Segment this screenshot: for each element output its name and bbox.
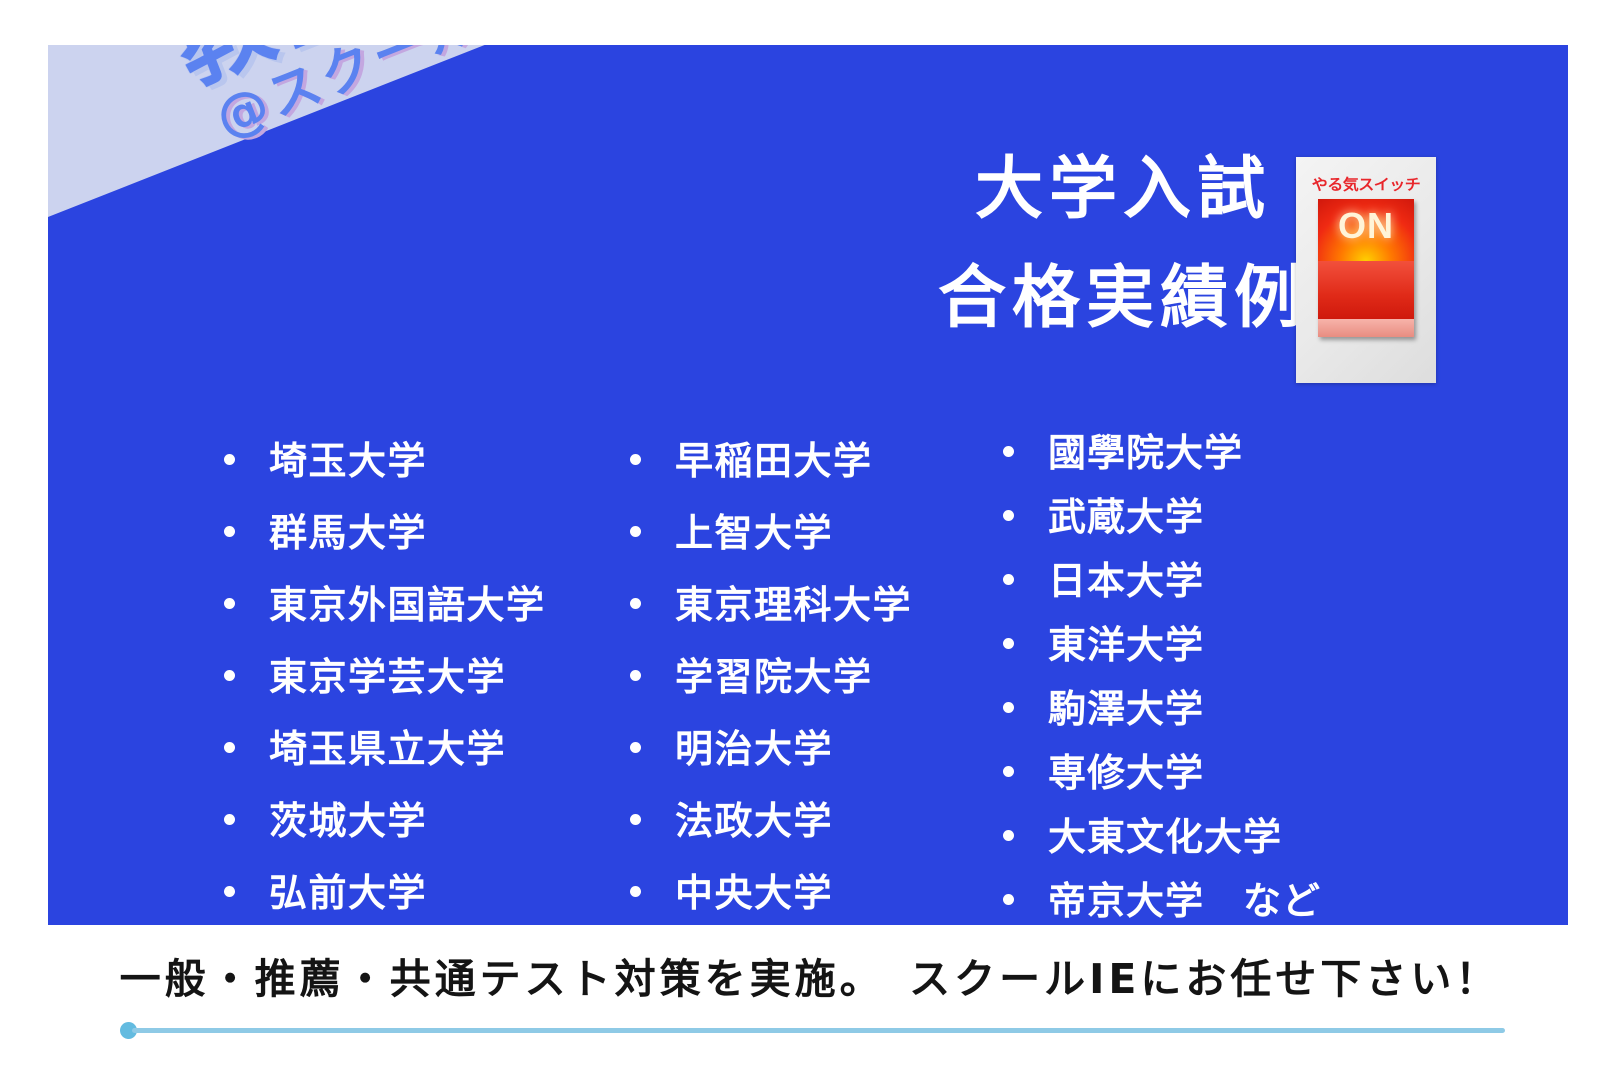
list-item: 学習院大学 (630, 646, 912, 718)
bullet-icon (1003, 702, 1014, 713)
bullet-icon (630, 598, 641, 609)
list-item: 帝京大学 など (1003, 870, 1321, 925)
university-name: 帝京大学 など (1048, 870, 1321, 925)
bullet-icon (630, 814, 641, 825)
list-item: 弘前大学 (224, 862, 546, 925)
university-name: 國學院大学 (1048, 422, 1243, 477)
bullet-icon (630, 886, 641, 897)
page-title: 大学入試 合格実績例 (878, 153, 1368, 336)
list-item: 明治大学 (630, 718, 912, 790)
list-item: 上智大学 (630, 502, 912, 574)
divider-line (132, 1028, 1505, 1033)
bullet-icon (630, 526, 641, 537)
bullet-icon (1003, 510, 1014, 521)
university-name: 東京外国語大学 (269, 574, 546, 629)
bullet-icon (1003, 446, 1014, 457)
university-name: 武蔵大学 (1048, 486, 1204, 541)
list-item: 中央大学 (630, 862, 912, 925)
bullet-icon (224, 670, 235, 681)
list-item: 早稲田大学 (630, 430, 912, 502)
footer-message: 一般・推薦・共通テスト対策を実施。 スクールIEにお任せ下さい！ (0, 945, 1620, 1005)
list-item: 東京学芸大学 (224, 646, 546, 718)
switch-on-label: ON (1318, 205, 1414, 247)
university-name: 弘前大学 (269, 862, 427, 917)
university-name: 明治大学 (675, 718, 833, 773)
bullet-icon (1003, 766, 1014, 777)
university-name: 群馬大学 (269, 502, 427, 557)
bullet-icon (630, 670, 641, 681)
bullet-icon (224, 454, 235, 465)
list-item: 駒澤大学 (1003, 678, 1321, 742)
list-item: 大東文化大学 (1003, 806, 1321, 870)
university-name: 駒澤大学 (1048, 678, 1204, 733)
university-name: 東京理科大学 (675, 574, 912, 629)
list-item: 茨城大学 (224, 790, 546, 862)
bullet-icon (224, 526, 235, 537)
list-item: 東京理科大学 (630, 574, 912, 646)
switch-lit-face: ON (1318, 199, 1414, 261)
list-item: 東洋大学 (1003, 614, 1321, 678)
list-item: 埼玉大学 (224, 430, 546, 502)
list-item: 法政大学 (630, 790, 912, 862)
university-name: 茨城大学 (269, 790, 427, 845)
yaruki-switch-logo: やる気スイッチ ON (1296, 157, 1436, 383)
list-item: 専修大学 (1003, 742, 1321, 806)
list-item: 埼玉県立大学 (224, 718, 546, 790)
list-item: 武蔵大学 (1003, 486, 1321, 550)
university-name: 埼玉大学 (269, 430, 427, 485)
university-name: 中央大学 (675, 862, 833, 917)
university-name: 法政大学 (675, 790, 833, 845)
bullet-icon (1003, 574, 1014, 585)
university-column-3: 國學院大学武蔵大学日本大学東洋大学駒澤大学専修大学大東文化大学帝京大学 など (1003, 400, 1321, 925)
university-column-2: 早稲田大学上智大学東京理科大学学習院大学明治大学法政大学中央大学 (630, 400, 912, 925)
university-name: 上智大学 (675, 502, 833, 557)
title-line-2: 合格実績例 (878, 262, 1368, 335)
university-name: 早稲田大学 (675, 430, 873, 485)
yaruki-switch-caption: やる気スイッチ (1296, 172, 1436, 194)
university-name: 大東文化大学 (1048, 806, 1282, 861)
bullet-icon (224, 814, 235, 825)
university-name: 専修大学 (1048, 742, 1204, 797)
title-line-1: 大学入試 (878, 153, 1368, 226)
bullet-icon (630, 742, 641, 753)
university-lists: 埼玉大学群馬大学東京外国語大学東京学芸大学埼玉県立大学茨城大学弘前大学 早稲田大… (48, 400, 1568, 920)
list-item: 國學院大学 (1003, 422, 1321, 486)
bullet-icon (1003, 638, 1014, 649)
bullet-icon (1003, 894, 1014, 905)
university-name: 日本大学 (1048, 550, 1204, 605)
university-name: 学習院大学 (675, 646, 873, 701)
university-column-1: 埼玉大学群馬大学東京外国語大学東京学芸大学埼玉県立大学茨城大学弘前大学 (224, 400, 546, 925)
footer-divider (120, 1022, 1505, 1038)
list-item: 日本大学 (1003, 550, 1321, 614)
university-name: 東京学芸大学 (269, 646, 506, 701)
university-name: 埼玉県立大学 (269, 718, 506, 773)
bullet-icon (1003, 830, 1014, 841)
footer: 一般・推薦・共通テスト対策を実施。 スクールIEにお任せ下さい！ (0, 945, 1620, 1005)
switch-base (1318, 319, 1414, 337)
university-name: 東洋大学 (1048, 614, 1204, 669)
switch-body (1318, 261, 1414, 319)
switch-icon: ON (1318, 199, 1414, 337)
list-item: 群馬大学 (224, 502, 546, 574)
bullet-icon (224, 598, 235, 609)
list-item: 東京外国語大学 (224, 574, 546, 646)
poster-panel: 教室紹介 @スクールIE深谷校 大学入試 合格実績例 やる気スイッチ ON 埼玉… (48, 45, 1568, 925)
diagonal-ribbon-band (48, 45, 974, 274)
bullet-icon (224, 886, 235, 897)
bullet-icon (630, 454, 641, 465)
bullet-icon (224, 742, 235, 753)
